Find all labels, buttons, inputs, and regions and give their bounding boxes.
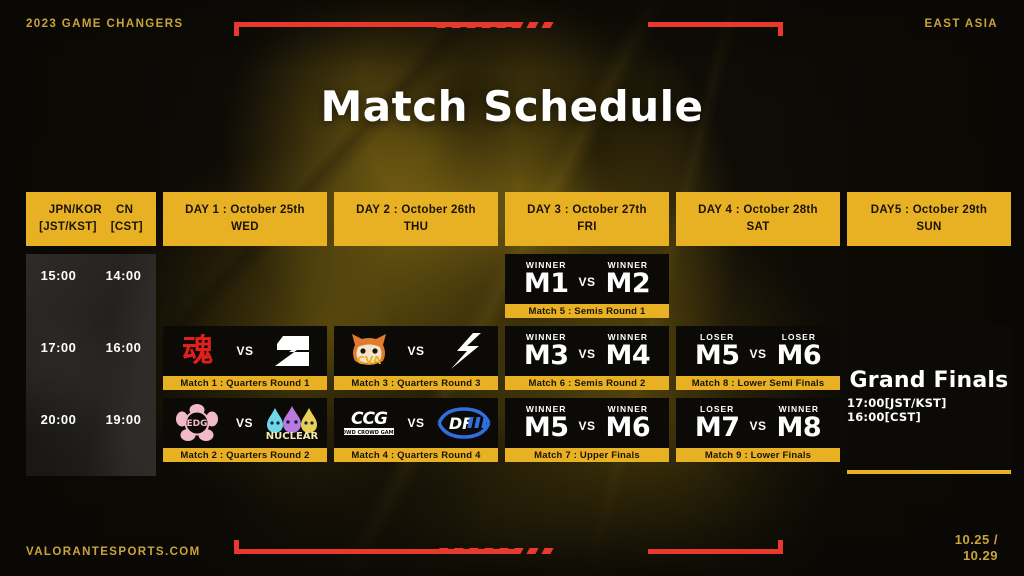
region-label: EAST ASIA — [924, 18, 998, 30]
match-slot-right: LOSER M6 — [777, 333, 822, 370]
match-card-label: Match 1 : Quarters Round 1 — [163, 376, 327, 390]
svg-text:CROWD CROWD GAMING: CROWD CROWD GAMING — [340, 430, 398, 436]
schedule-body-row: 15:00 14:00 17:00 16:00 20:00 19:00 — [26, 254, 998, 476]
grand-finals-body: Grand Finals 17:00[JST/KST] 16:00[CST] — [847, 326, 1011, 466]
day-column-3: WINNER M1 VS WINNER M2 Match 5 : Semis R… — [505, 254, 669, 462]
match-card-label: Match 2 : Quarters Round 2 — [163, 448, 327, 462]
match-card-8[interactable]: LOSER M5 VS LOSER M6 Match 8 : Lower Sem… — [676, 326, 840, 390]
timezone-jpnkor-code: [JST/KST] — [39, 219, 97, 236]
page-title: Match Schedule — [0, 82, 1024, 131]
vs-label: VS — [747, 347, 768, 361]
nuclear-logo-icon: NUCLEAR — [263, 402, 321, 444]
match-card-label: Match 8 : Lower Semi Finals — [676, 376, 840, 390]
match-code: M8 — [777, 414, 822, 441]
timezone-header: JPN/KOR CN [JST/KST] [CST] — [26, 192, 156, 246]
day-header-weekday: SUN — [916, 219, 941, 236]
match-card-body: CCG CROWD CROWD GAMING VS DF — [334, 398, 498, 448]
match-code: M5 — [695, 342, 740, 369]
match-card-body: WINNER M1 VS WINNER M2 — [505, 254, 669, 304]
cva-logo-icon: CVA — [340, 330, 397, 372]
day-column-1: 魂 VS Match 1 : Quarters Round 1 — [163, 254, 327, 462]
match-slot-right: WINNER M4 — [606, 333, 651, 370]
day-header-title: DAY 1 : October 25th — [185, 202, 305, 219]
grand-finals-card[interactable]: Grand Finals 17:00[JST/KST] 16:00[CST] — [847, 326, 1011, 474]
match-card-9[interactable]: LOSER M7 VS WINNER M8 Match 9 : Lower Fi… — [676, 398, 840, 462]
match-code: M1 — [524, 270, 569, 297]
footer-bracket-right — [648, 540, 783, 554]
match-code: M2 — [606, 270, 651, 297]
match-card-5[interactable]: WINNER M1 VS WINNER M2 Match 5 : Semis R… — [505, 254, 669, 318]
header-bracket-right — [648, 22, 783, 36]
vs-label: VS — [405, 344, 426, 358]
day-header-weekday: WED — [231, 219, 259, 236]
match-card-label: Match 7 : Upper Finals — [505, 448, 669, 462]
day-header-title: DAY 2 : October 26th — [356, 202, 476, 219]
time-cst-2: 16:00 — [91, 340, 156, 355]
empty-slot — [163, 254, 327, 318]
day-header-weekday: FRI — [577, 219, 596, 236]
bracket-bar — [648, 22, 783, 27]
schedule-header-row: JPN/KOR CN [JST/KST] [CST] DAY 1 : Octob… — [26, 192, 998, 246]
day-column-5: Grand Finals 17:00[JST/KST] 16:00[CST] — [847, 254, 1011, 474]
svg-text:CVA: CVA — [357, 354, 382, 367]
match-card-6[interactable]: WINNER M3 VS WINNER M4 Match 6 : Semis R… — [505, 326, 669, 390]
empty-slot — [334, 254, 498, 318]
match-card-label: Match 5 : Semis Round 1 — [505, 304, 669, 318]
event-date-line-1: 10.25 / — [955, 532, 998, 548]
bracket-tick — [778, 540, 783, 554]
match-slot-left: WINNER M3 — [524, 333, 569, 370]
bolt-logo-icon — [435, 330, 492, 372]
day-header-3[interactable]: DAY 3 : October 27th FRI — [505, 192, 669, 246]
day-header-weekday: SAT — [746, 219, 769, 236]
event-date-range: 10.25 / 10.29 — [955, 532, 998, 565]
match-card-label: Match 9 : Lower Finals — [676, 448, 840, 462]
match-card-7[interactable]: WINNER M5 VS WINNER M6 Match 7 : Upper F… — [505, 398, 669, 462]
day-header-title: DAY 4 : October 28th — [698, 202, 818, 219]
grand-finals-rule — [847, 470, 1011, 474]
event-date-line-2: 10.29 — [955, 548, 998, 564]
timezone-header-sub: [JST/KST] [CST] — [39, 219, 143, 236]
match-card-body: WINNER M3 VS WINNER M4 — [505, 326, 669, 376]
bracket-bar — [648, 549, 783, 554]
vs-label: VS — [576, 347, 597, 361]
time-row-2: 17:00 16:00 — [26, 334, 156, 360]
grand-finals-title: Grand Finals — [850, 368, 1009, 393]
day-header-weekday: THU — [404, 219, 429, 236]
match-card-body: LOSER M5 VS LOSER M6 — [676, 326, 840, 376]
vs-label: VS — [576, 419, 597, 433]
match-code: M3 — [524, 342, 569, 369]
match-card-3[interactable]: CVA VS Match 3 : Quarters Round 3 — [334, 326, 498, 390]
match-slot-right: WINNER M6 — [606, 405, 651, 442]
soul-logo-icon: 魂 — [169, 330, 226, 372]
match-code: M5 — [524, 414, 569, 441]
match-slot-left: WINNER M1 — [524, 261, 569, 298]
match-schedule-page: 2023 GAME CHANGERS EAST ASIA Match Sched… — [0, 0, 1024, 576]
bracket-tick — [234, 540, 239, 554]
day-column-2: CVA VS Match 3 : Quarters Round 3 — [334, 254, 498, 462]
vs-label: VS — [747, 419, 768, 433]
ccg-logo-icon: CCG CROWD CROWD GAMING — [340, 402, 398, 444]
empty-slot — [847, 254, 1011, 318]
match-slot-left: LOSER M7 — [695, 405, 740, 442]
schedule-grid: JPN/KOR CN [JST/KST] [CST] DAY 1 : Octob… — [26, 192, 998, 476]
empty-slot — [676, 254, 840, 318]
match-card-1[interactable]: 魂 VS Match 1 : Quarters Round 1 — [163, 326, 327, 390]
vs-label: VS — [234, 344, 255, 358]
match-code: M7 — [695, 414, 740, 441]
day-header-2[interactable]: DAY 2 : October 26th THU — [334, 192, 498, 246]
time-column: 15:00 14:00 17:00 16:00 20:00 19:00 — [26, 254, 156, 476]
match-card-4[interactable]: CCG CROWD CROWD GAMING VS DF — [334, 398, 498, 462]
match-code: M6 — [777, 342, 822, 369]
header-hatch-marks — [436, 22, 553, 28]
edg-logo-icon: EDG — [169, 402, 226, 444]
match-card-body: LOSER M7 VS WINNER M8 — [676, 398, 840, 448]
vs-label: VS — [576, 275, 597, 289]
match-card-2[interactable]: EDG VS NUCLEAR — [163, 398, 327, 462]
day-header-title: DAY5 : October 29th — [871, 202, 987, 219]
time-cst-3: 19:00 — [91, 412, 156, 427]
day-header-5[interactable]: DAY5 : October 29th SUN — [847, 192, 1011, 246]
match-card-label: Match 4 : Quarters Round 4 — [334, 448, 498, 462]
match-slot-left: LOSER M5 — [695, 333, 740, 370]
match-slot-right: WINNER M8 — [777, 405, 822, 442]
time-cst-1: 14:00 — [91, 268, 156, 283]
timezone-header-top: JPN/KOR CN — [49, 202, 133, 219]
time-jst-2: 17:00 — [26, 340, 91, 355]
bracket-tick — [234, 22, 239, 36]
time-jst-3: 20:00 — [26, 412, 91, 427]
match-card-body: EDG VS NUCLEAR — [163, 398, 327, 448]
day-header-4[interactable]: DAY 4 : October 28th SAT — [676, 192, 840, 246]
vs-label: VS — [234, 416, 255, 430]
match-card-body: WINNER M5 VS WINNER M6 — [505, 398, 669, 448]
svg-text:EDG: EDG — [187, 419, 208, 429]
grand-finals-time: 17:00[JST/KST] 16:00[CST] — [847, 396, 1011, 424]
day-column-4: LOSER M5 VS LOSER M6 Match 8 : Lower Sem… — [676, 254, 840, 462]
timezone-cn-label: CN — [116, 202, 133, 219]
timezone-cn-code: [CST] — [111, 219, 143, 236]
match-card-body: CVA VS — [334, 326, 498, 376]
match-code: M4 — [606, 342, 651, 369]
match-slot-right: WINNER M2 — [606, 261, 651, 298]
match-card-body: 魂 VS — [163, 326, 327, 376]
time-row-1: 15:00 14:00 — [26, 262, 156, 288]
timezone-jpnkor-label: JPN/KOR — [49, 202, 102, 219]
zeta-logo-icon — [264, 330, 321, 372]
time-row-3: 20:00 19:00 — [26, 406, 156, 432]
svg-text:CCG: CCG — [351, 409, 388, 429]
event-kicker: 2023 GAME CHANGERS — [26, 18, 183, 30]
website-label: VALORANTESPORTS.COM — [26, 546, 201, 558]
footer-hatch-marks — [436, 548, 553, 554]
time-jst-1: 15:00 — [26, 268, 91, 283]
day-header-1[interactable]: DAY 1 : October 25th WED — [163, 192, 327, 246]
dfm-logo-icon: DF — [435, 402, 493, 444]
match-code: M6 — [606, 414, 651, 441]
vs-label: VS — [406, 416, 427, 430]
match-card-label: Match 3 : Quarters Round 3 — [334, 376, 498, 390]
svg-text:NUCLEAR: NUCLEAR — [266, 431, 319, 442]
match-slot-left: WINNER M5 — [524, 405, 569, 442]
match-card-label: Match 6 : Semis Round 2 — [505, 376, 669, 390]
bracket-tick — [778, 22, 783, 36]
day-header-title: DAY 3 : October 27th — [527, 202, 647, 219]
